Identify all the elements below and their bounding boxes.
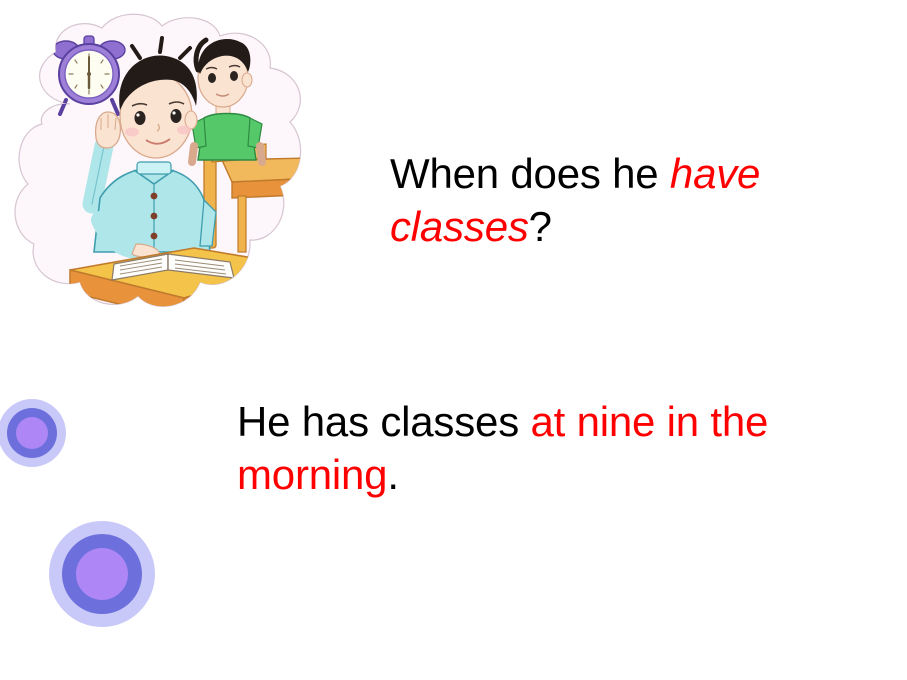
small-ring-decoration [0,399,66,467]
answer-text: He has classes at nine in the morning. [237,396,877,501]
large-ring-core [76,548,128,600]
front-desk-illustration [70,248,300,372]
question-lead: When does he [390,150,670,197]
question-text: When does he have classes? [390,148,870,253]
question-trailing: ? [529,203,552,250]
answer-lead: He has classes [237,398,530,445]
small-ring-core [16,417,48,449]
answer-trailing: . [387,451,398,498]
large-ring-decoration [49,521,155,627]
classroom-illustration [8,8,328,376]
slide-canvas: When does he have classes? He has classe… [0,0,907,680]
alarm-clock-illustration [53,36,125,114]
